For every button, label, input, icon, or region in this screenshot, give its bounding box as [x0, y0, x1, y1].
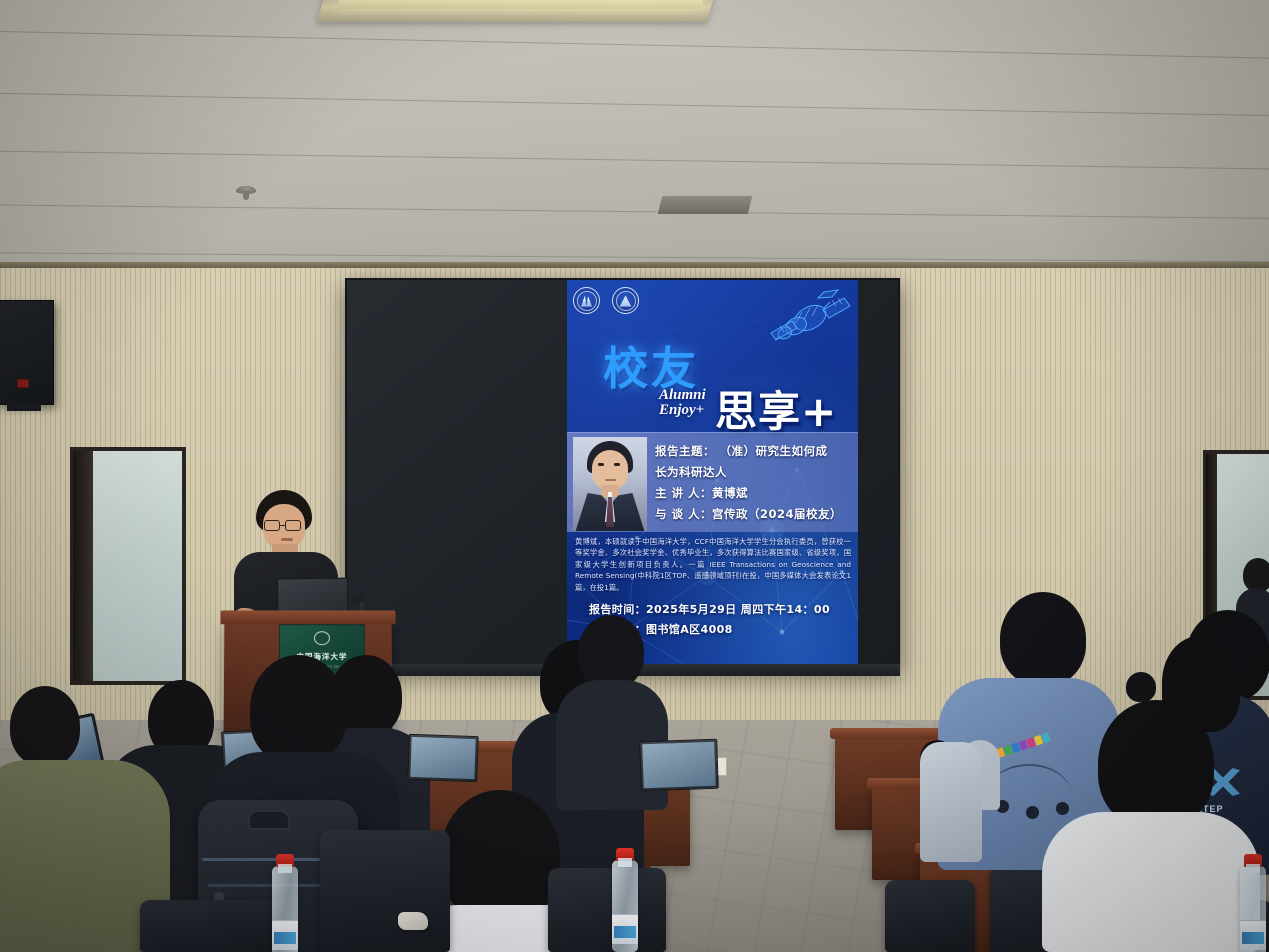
satellite-wireframe-icon	[766, 286, 852, 356]
microphone-icon	[353, 594, 365, 603]
university-crest-icon	[314, 631, 330, 645]
wall-trim	[0, 262, 1269, 268]
library-emblem-icon	[612, 287, 639, 314]
ceiling	[0, 0, 1269, 300]
chair-back	[885, 880, 975, 952]
slide-speaker-line: 主 讲 人：黄博斌	[655, 483, 854, 504]
water-bottle	[612, 860, 638, 952]
slide-bio-text: 黄博斌，本硕就读于中国海洋大学，CCF中国海洋大学学生分会执行委员，曾获校一等奖…	[575, 536, 851, 593]
water-bottle	[1240, 866, 1266, 952]
slide-info-panel: 报告主题： （准）研究生如何成 长为科研达人 主 讲 人：黄博斌 与 谈 人：宫…	[567, 432, 858, 532]
door-hinge-icon	[78, 579, 85, 593]
slide-title-en: Alumni Enjoy+	[659, 388, 706, 418]
led-display-screen: 校友 Alumni Enjoy+ 思享+ 报告主	[345, 278, 900, 670]
door-glass	[74, 451, 182, 681]
tshirt-dot	[1026, 806, 1039, 819]
door-left[interactable]	[70, 447, 186, 685]
attendee-laptop	[639, 739, 719, 792]
speaker-bracket	[7, 403, 41, 411]
chair-back	[320, 830, 450, 952]
glasses-icon	[264, 520, 304, 531]
slide-topic-line1: 报告主题： （准）研究生如何成	[655, 441, 854, 462]
door-hinge-icon	[78, 487, 85, 501]
slide-logo-row	[573, 287, 639, 314]
slide-topic-line2: 长为科研达人	[655, 462, 854, 483]
speaker-led-icon	[17, 379, 29, 388]
slide-info-text: 报告主题： （准）研究生如何成 长为科研达人 主 讲 人：黄博斌 与 谈 人：宫…	[655, 441, 854, 525]
ceiling-light-icon	[317, 0, 717, 22]
attendee-light-shirt	[920, 742, 982, 862]
slide-discussant-line: 与 谈 人：宫传政（2024届校友）	[655, 504, 854, 525]
litter-paper	[398, 912, 428, 930]
slide-time-line: 报告时间：2025年5月29日 周四下午14：00	[589, 600, 830, 620]
chair-back	[548, 868, 666, 952]
ceiling-sprinkler-icon	[236, 186, 256, 194]
tshirt-dot	[1056, 802, 1069, 815]
attendee-laptop	[407, 734, 479, 782]
wall-speaker-icon	[0, 300, 54, 405]
water-bottle	[272, 866, 298, 952]
chair-back	[140, 900, 290, 952]
slide-title-cn2: 思享+	[715, 378, 837, 439]
ouc-emblem-icon	[573, 287, 600, 314]
speaker-portrait	[573, 437, 647, 531]
presentation-slide: 校友 Alumni Enjoy+ 思享+ 报告主	[567, 280, 858, 670]
lecture-hall-photo: 校友 Alumni Enjoy+ 思享+ 报告主	[0, 0, 1269, 952]
ceiling-fixture-secondary	[658, 196, 752, 214]
